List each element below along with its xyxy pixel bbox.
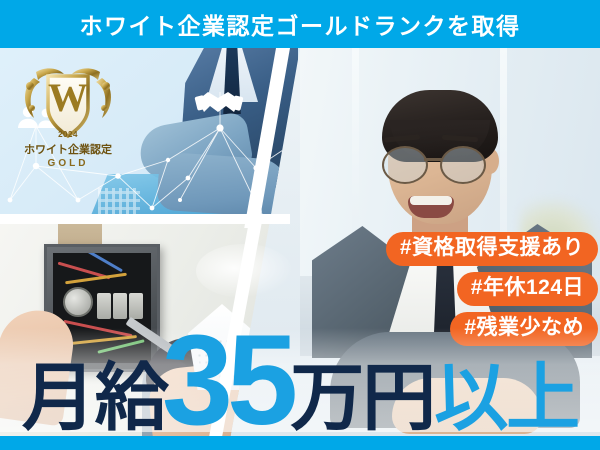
badge-rank-label: GOLD [14,158,122,169]
lens-left [382,146,428,184]
wire [85,253,123,272]
gold-certification-badge: W 2024 ホワイト企業認定 GOLD [14,56,122,182]
smiling-mouth [408,196,454,218]
rotary-switch [63,287,93,317]
main-headline: 月給 35 万円 以上 [0,322,600,432]
header-bar: ホワイト企業認定ゴールドランクを取得 [0,0,600,48]
lens-right [440,146,486,184]
breaker [113,293,127,319]
headline-prefix: 月給 [22,364,168,432]
glasses-bridge [424,158,442,161]
hashtag-tag-qualification-support[interactable]: #資格取得支援あり [386,232,598,266]
header-title: ホワイト企業認定ゴールドランクを取得 [80,7,521,41]
badge-monogram: W [14,74,122,121]
headline-unit: 万円 [290,364,434,432]
hashtag-tag-annual-holidays[interactable]: #年休124日 [457,272,598,306]
eyeglasses-icon [382,146,498,180]
breaker [97,293,111,319]
headline-suffix: 以上 [434,364,578,432]
badge-year: 2024 [14,130,122,139]
headline-amount: 35 [162,322,292,440]
footer-bar [0,436,600,450]
badge-certification-label: ホワイト企業認定 [14,141,122,157]
job-ad-banner: ホワイト企業認定ゴールドランクを取得 [0,0,600,450]
horizontal-divider [0,214,290,224]
handshake-icon [194,92,243,112]
breaker [129,293,143,319]
